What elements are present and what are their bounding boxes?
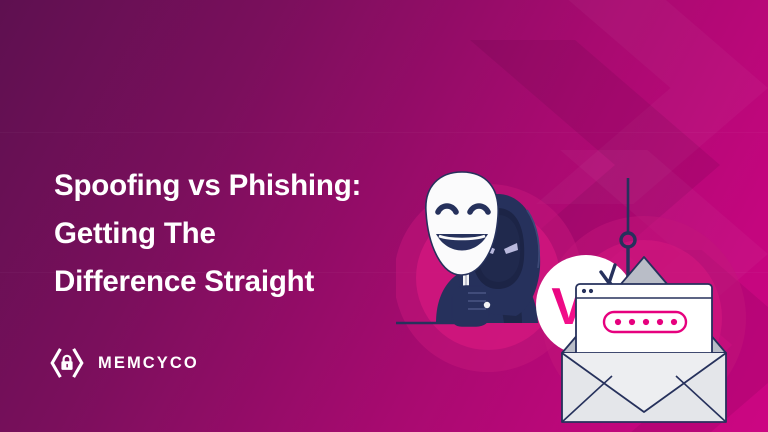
headline-line-3: Difference Straight — [54, 258, 454, 306]
padlock-in-brackets-icon — [48, 348, 86, 378]
brand-name: MEMCYCO — [98, 354, 199, 373]
browser-window-icon — [576, 284, 712, 362]
marketing-banner: Spoofing vs Phishing: Getting The Differ… — [0, 0, 768, 432]
headline-line-1: Spoofing vs Phishing: — [54, 162, 454, 210]
password-dot-icon — [671, 319, 677, 325]
password-field — [604, 312, 686, 332]
hero-illustration: VS — [396, 150, 768, 432]
page-title: Spoofing vs Phishing: Getting The Differ… — [54, 162, 454, 306]
password-dot-icon — [643, 319, 649, 325]
hand-icon — [452, 286, 490, 326]
browser-dot-icon — [582, 289, 586, 293]
headline-line-2: Getting The — [54, 210, 454, 258]
background-band — [0, 132, 768, 133]
password-dot-icon — [657, 319, 663, 325]
brand-logo[interactable]: MEMCYCO — [48, 348, 199, 378]
browser-dot-icon — [589, 289, 593, 293]
password-dot-icon — [615, 319, 621, 325]
password-dot-icon — [629, 319, 635, 325]
